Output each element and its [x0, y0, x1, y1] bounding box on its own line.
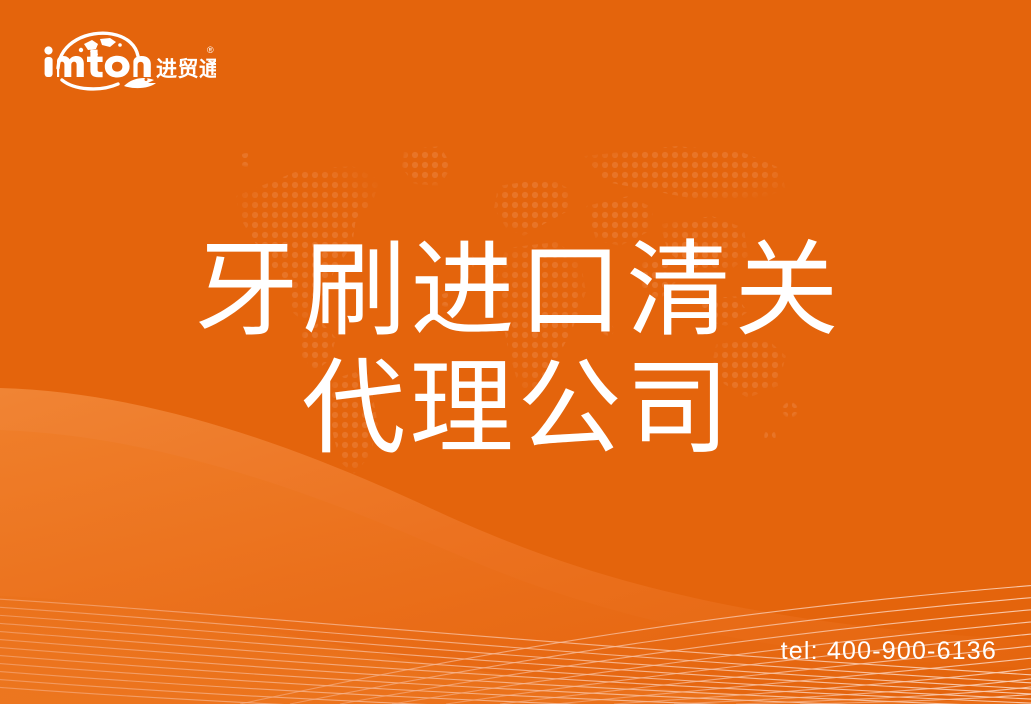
headline-line-2: 代理公司 — [4, 350, 1031, 468]
headline-line-1: 牙刷进口清关 — [6, 232, 1031, 350]
poster-canvas: 进贸通 ® 牙刷进口清关 代理公司 tel: 400-900-6136 — [0, 0, 1031, 704]
swoosh-icon — [124, 78, 156, 88]
globe-landmass-icon — [79, 38, 122, 56]
logo-chinese-name: 进贸通 — [156, 58, 216, 81]
contact-phone[interactable]: tel: 400-900-6136 — [781, 637, 997, 666]
brand-logo[interactable]: 进贸通 ® — [40, 28, 216, 96]
page-title: 牙刷进口清关 代理公司 — [0, 232, 1031, 468]
trademark-symbol: ® — [207, 45, 214, 55]
